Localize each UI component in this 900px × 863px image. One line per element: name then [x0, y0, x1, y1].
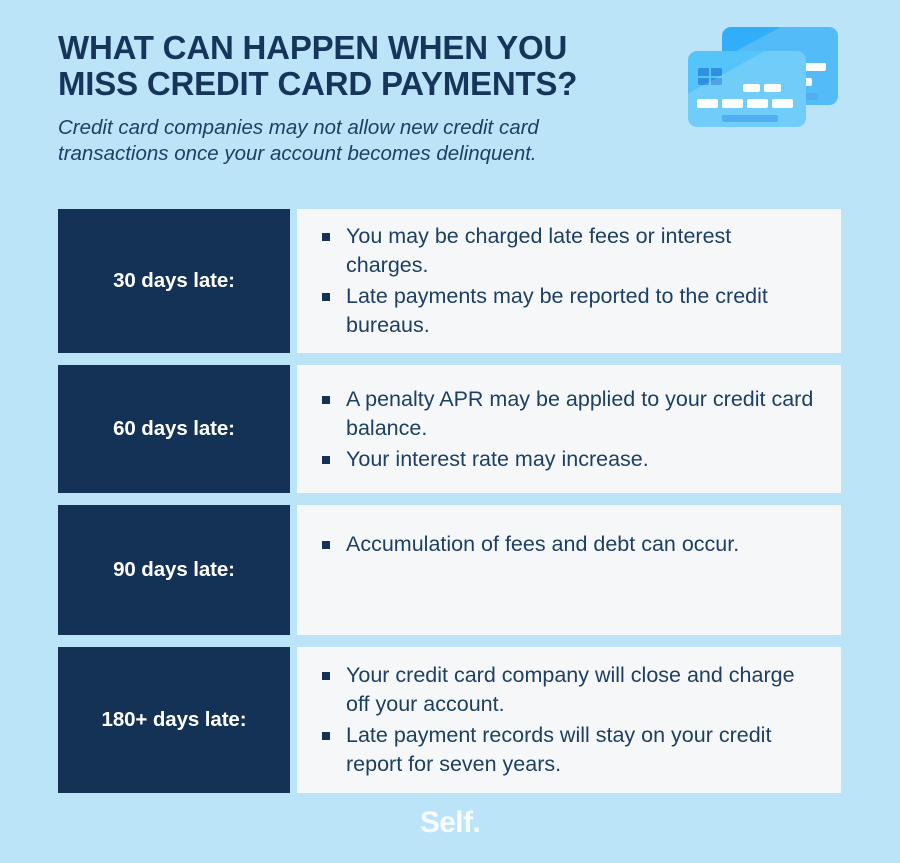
page-subtitle: Credit card companies may not allow new … — [58, 102, 738, 167]
self-logo: Self. — [420, 806, 480, 840]
table-row: 60 days late: A penalty APR may be appli… — [58, 365, 841, 493]
row-divider — [290, 505, 297, 635]
bullet-list: Accumulation of fees and debt can occur. — [319, 530, 819, 559]
table-row: 90 days late: Accumulation of fees and d… — [58, 505, 841, 635]
bullet-list: A penalty APR may be applied to your cre… — [319, 385, 819, 474]
infographic-root: WHAT CAN HAPPEN WHEN YOU MISS CREDIT CAR… — [0, 0, 900, 863]
page-title-line-1: WHAT CAN HAPPEN WHEN YOU — [58, 30, 698, 66]
credit-cards-icon — [688, 27, 848, 129]
row-body-60-days: A penalty APR may be applied to your cre… — [297, 365, 841, 493]
row-label-90-days: 90 days late: — [58, 505, 290, 635]
row-label-180-days: 180+ days late: — [58, 647, 290, 793]
page-subtitle-line-2: transactions once your account becomes d… — [58, 141, 738, 167]
row-divider — [290, 647, 297, 793]
page-title: WHAT CAN HAPPEN WHEN YOU MISS CREDIT CAR… — [58, 30, 698, 102]
bullet-list: Your credit card company will close and … — [319, 661, 819, 779]
row-divider — [290, 209, 297, 353]
row-body-30-days: You may be charged late fees or interest… — [297, 209, 841, 353]
table-row: 180+ days late: Your credit card company… — [58, 647, 841, 793]
timeline-table: 30 days late: You may be charged late fe… — [58, 209, 841, 793]
page-subtitle-line-1: Credit card companies may not allow new … — [58, 115, 738, 141]
row-body-90-days: Accumulation of fees and debt can occur. — [297, 505, 841, 635]
list-item: Late payment records will stay on your c… — [319, 721, 819, 779]
list-item: Your credit card company will close and … — [319, 661, 819, 719]
list-item: Your interest rate may increase. — [319, 445, 819, 474]
row-divider — [290, 365, 297, 493]
table-row: 30 days late: You may be charged late fe… — [58, 209, 841, 353]
footer: Self. — [0, 806, 900, 840]
row-body-180-days: Your credit card company will close and … — [297, 647, 841, 793]
row-label-60-days: 60 days late: — [58, 365, 290, 493]
bullet-list: You may be charged late fees or interest… — [319, 222, 819, 340]
list-item: Accumulation of fees and debt can occur. — [319, 530, 819, 559]
credit-card-front — [688, 51, 806, 127]
page-title-line-2: MISS CREDIT CARD PAYMENTS? — [58, 66, 698, 102]
list-item: A penalty APR may be applied to your cre… — [319, 385, 819, 443]
list-item: Late payments may be reported to the cre… — [319, 282, 819, 340]
card-front-sheen — [688, 51, 806, 127]
row-label-30-days: 30 days late: — [58, 209, 290, 353]
list-item: You may be charged late fees or interest… — [319, 222, 819, 280]
